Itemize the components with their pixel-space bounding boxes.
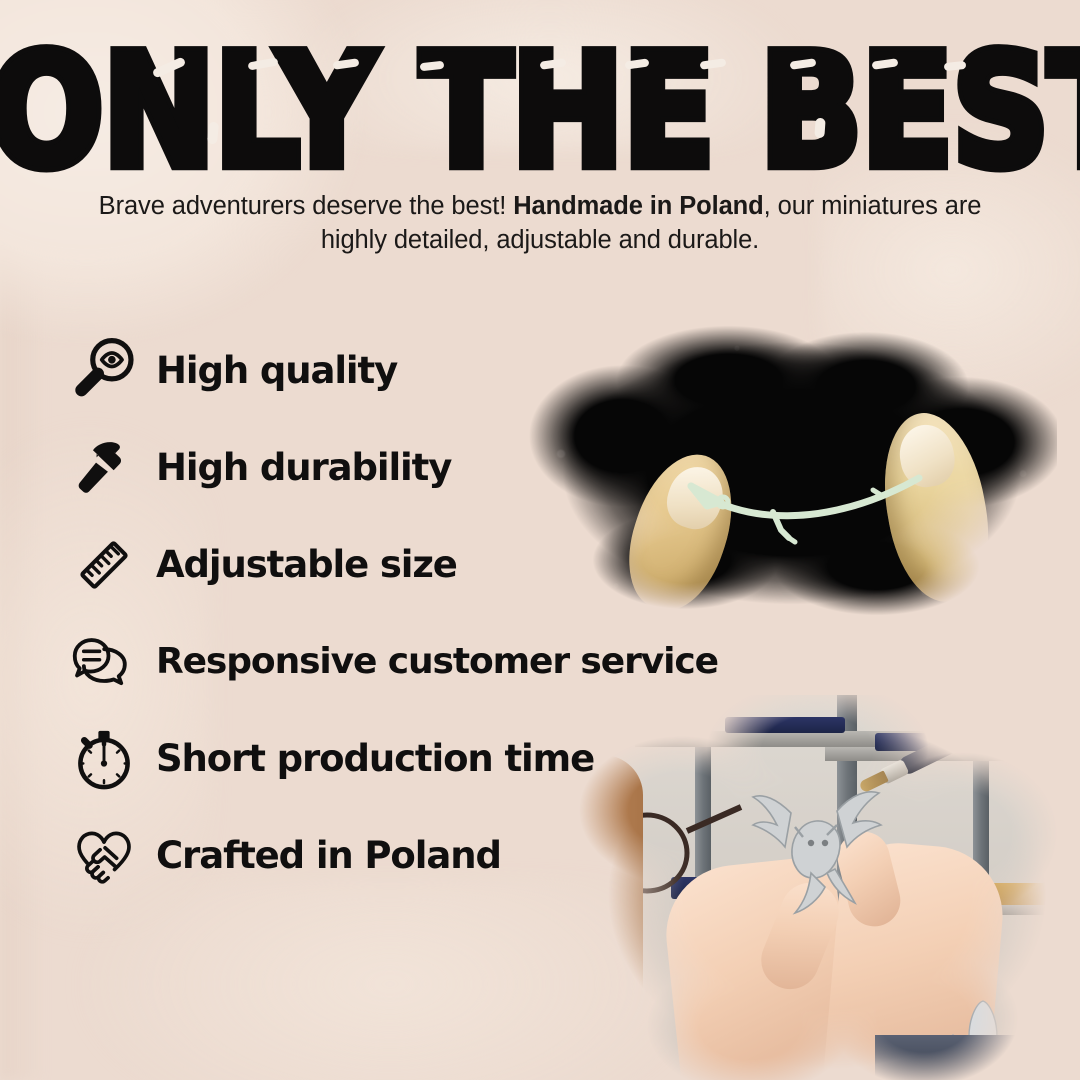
feature-label: Short production time: [156, 737, 594, 780]
dragon-miniature: [733, 777, 903, 927]
feature-label: Adjustable size: [156, 543, 457, 586]
handshake-heart-icon: [62, 814, 146, 898]
subtitle-emphasis: Handmade in Poland: [513, 192, 763, 220]
feature-label: Responsive customer service: [156, 641, 718, 682]
miniature-tray-top: [725, 717, 845, 733]
page-title: ONLY THE BEST: [0, 34, 1080, 190]
feature-label: High durability: [156, 446, 451, 489]
ink-blot-mask: [527, 312, 1057, 622]
torn-edge-mask: [575, 695, 1060, 1080]
shelf-lower-surface: [875, 1035, 1060, 1080]
feature-label: Crafted in Poland: [156, 834, 501, 877]
headline-wrap: ONLY THE BEST: [0, 0, 1080, 180]
flexible-miniature-photo: [527, 312, 1057, 622]
stopwatch-icon: [62, 717, 146, 801]
workshop-painting-photo: [575, 695, 1060, 1080]
speech-bubbles-icon: [62, 620, 146, 704]
promo-graphic: ONLY THE BEST Brave adventurers deserve …: [0, 0, 1080, 1080]
arm-left-edge: [575, 755, 643, 1055]
feature-label: High quality: [156, 349, 397, 392]
paintbrush-tip: [858, 770, 888, 793]
subtitle: Brave adventurers deserve the best! Hand…: [90, 190, 990, 258]
ruler-icon: [62, 523, 146, 607]
magnifier-eye-icon: [62, 329, 146, 413]
subtitle-lead: Brave adventurers deserve the best!: [99, 192, 507, 220]
green-miniature-part: [677, 472, 947, 552]
hammer-icon: [62, 426, 146, 510]
